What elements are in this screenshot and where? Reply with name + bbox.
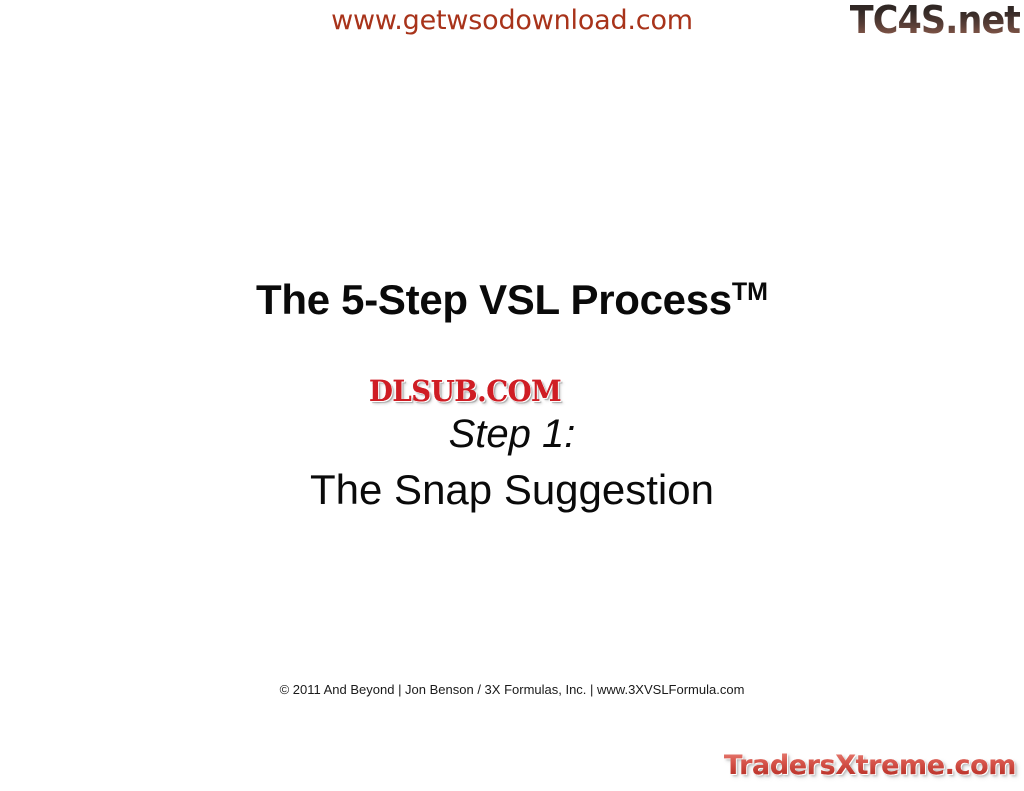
slide-subtitle: The Snap Suggestion (0, 466, 1024, 514)
tc4s-logo-watermark: TC4S.net (850, 0, 1020, 42)
step-label: Step 1: (0, 412, 1024, 457)
trademark-symbol: TM (732, 278, 768, 306)
slide-canvas: www.getwsodownload.com TC4S.net The 5-St… (0, 0, 1024, 791)
slide-title-text: The 5-Step VSL Process (256, 276, 732, 323)
tradersxtreme-logo-watermark-fill: TradersXtreme.com (724, 750, 1016, 781)
tradersxtreme-logo-watermark: TradersXtreme.comTradersXtreme.com (724, 750, 1016, 781)
dlsub-logo-watermark: DLSUB.COMDLSUB.COM (369, 374, 561, 408)
footer-copyright: © 2011 And Beyond | Jon Benson / 3X Form… (0, 682, 1024, 697)
dlsub-logo-watermark-fill: DLSUB.COM (369, 374, 561, 408)
slide-title: The 5-Step VSL ProcessTM (0, 276, 1024, 324)
